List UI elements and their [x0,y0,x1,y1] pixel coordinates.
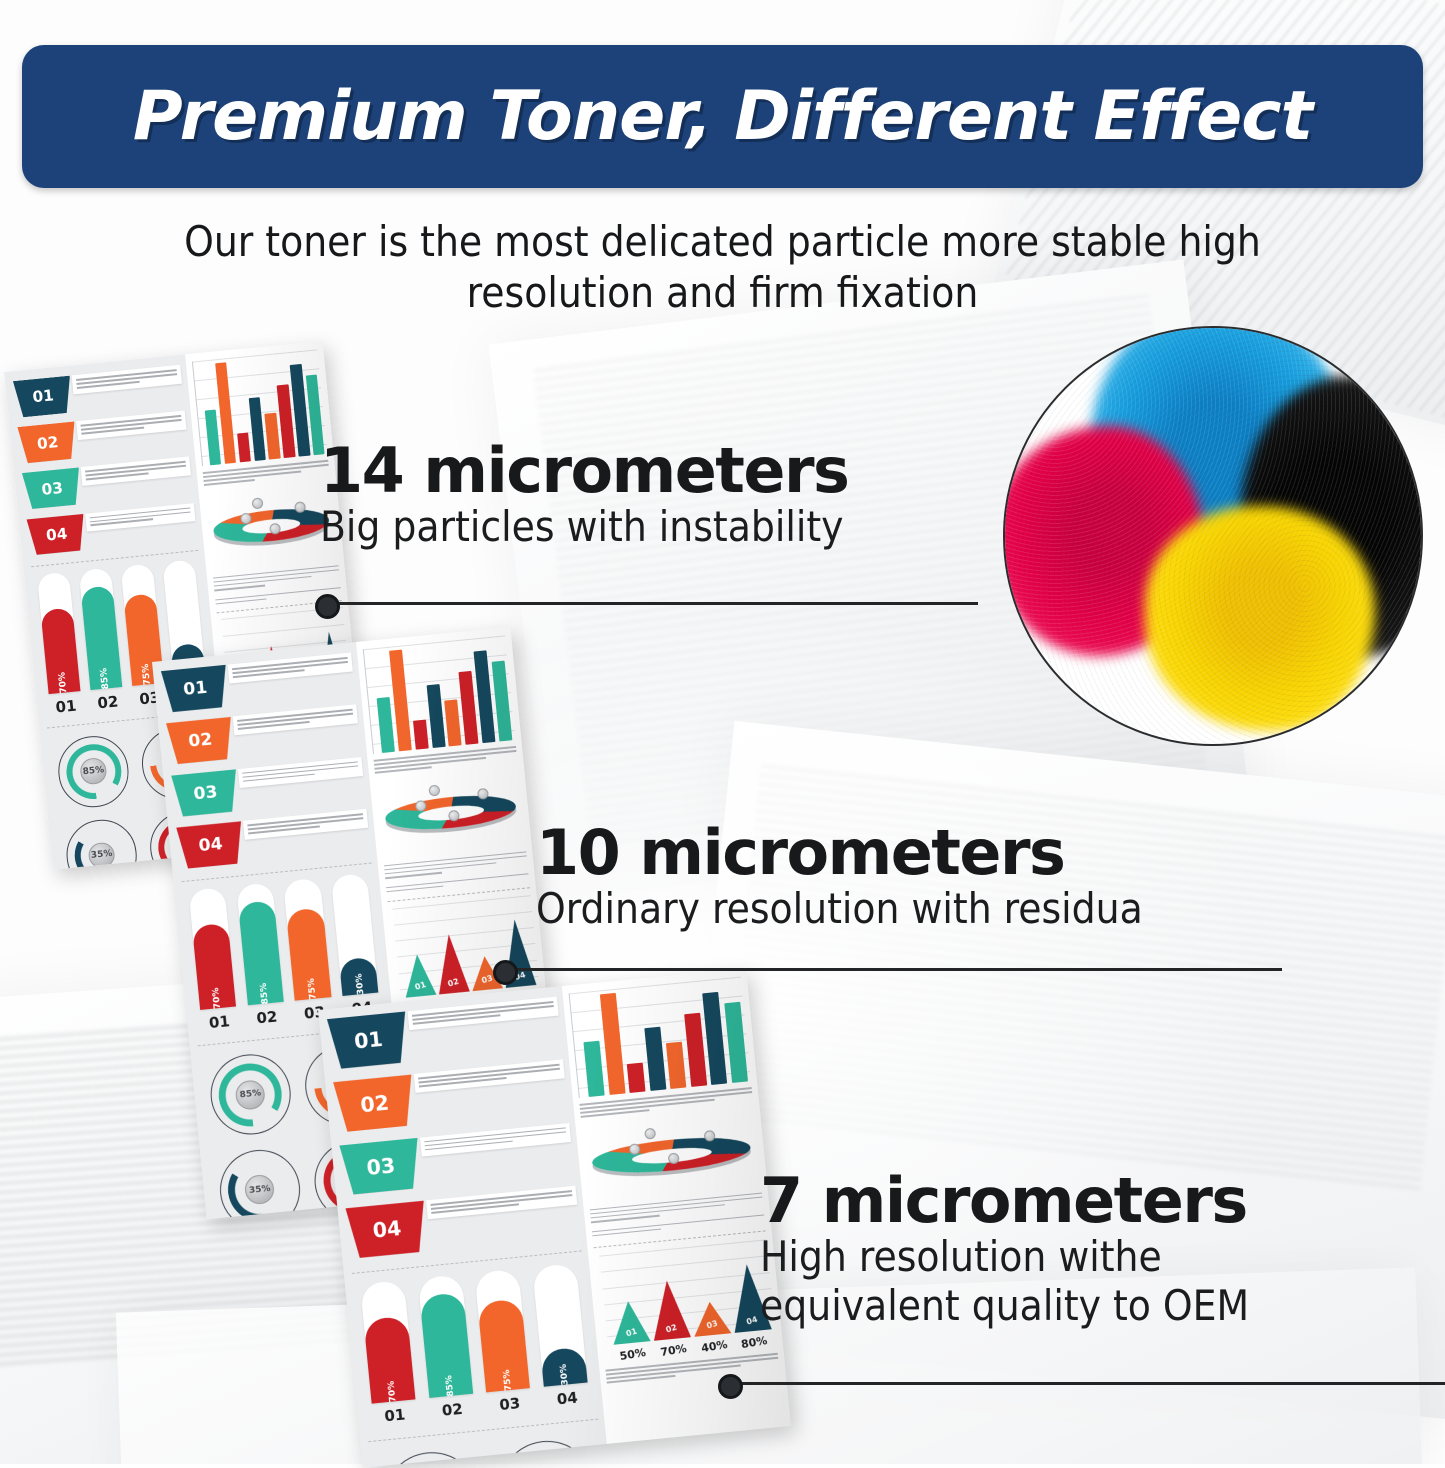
step-text-01 [228,653,353,684]
triangle-item: 02 [433,933,469,995]
paragraph-lines [424,1127,567,1150]
bar-category-label: 02 [248,1007,286,1028]
triangle-shape [609,1299,650,1344]
paragraph-lines [242,761,359,782]
mini-bar [248,397,266,461]
mini-bar [445,699,462,746]
step-row-03: 03 [339,1123,574,1196]
bar-value-label: 85% [444,1375,456,1397]
connector-line-10um [502,968,1282,971]
bar-category-label: 01 [49,696,83,717]
step-badge-04: 04 [345,1201,428,1259]
bar-value-label: 70% [58,671,70,693]
text-line [424,1127,566,1142]
donut-value-label: 85% [239,1089,261,1101]
bar-chart: 70%85%75%30% [183,873,385,1011]
step-row-01: 01 [327,997,562,1070]
bar-capsule: 85% [79,567,123,690]
spec-desc-7um-line-2: equivalent quality to OEM [760,1282,1249,1331]
donut-chart: 35% [63,816,140,869]
bar-fill: 85% [238,900,284,1005]
step-badge-02: 02 [333,1075,416,1133]
mini-bar [666,1041,686,1089]
bar-fill: 85% [81,585,123,690]
step-badge-02: 02 [17,422,78,464]
paragraph-lines [237,709,354,730]
bar-value-label: 75% [501,1369,513,1391]
triangle-item: 02 [648,1279,691,1341]
donut-value-label: 85% [82,765,104,777]
mini-bar [644,1027,666,1091]
triangle-value-label: 50% [614,1345,653,1364]
spec-block-14um: 14 micrometers Big particles with instab… [320,438,848,552]
spec-block-10um: 10 micrometers Ordinary resolution with … [536,820,1143,934]
connector-line-7um [727,1382,1445,1385]
ring-chart [376,768,526,860]
spec-value-7um: 7 micrometers [760,1168,1249,1233]
paragraph-lines [85,461,187,480]
subtitle-line-1: Our toner is the most delicated particle… [0,216,1445,267]
bar-value-label: 70% [211,987,223,1009]
step-badge-04: 04 [176,821,245,869]
mini-bar [627,1062,646,1093]
triangle-shape [691,1300,731,1337]
bar-value-label: 30% [354,973,366,995]
bar-capsule: 70% [37,572,81,695]
paragraph-lines [418,1064,561,1087]
ring-marker [269,522,281,534]
mini-bar [684,1012,707,1087]
mini-bars [200,350,325,466]
bar-category-label: 01 [372,1405,417,1427]
mini-bar [205,410,222,465]
step-row-04: 04 [345,1186,580,1259]
mini-bar [413,719,429,750]
bar-fill: 70% [40,607,80,694]
step-text-02 [413,1060,565,1094]
step-text-04 [243,809,368,840]
ring-marker [644,1128,656,1140]
mini-bar [492,661,513,742]
ring-marker [448,809,460,821]
step-badge-02: 02 [166,717,235,765]
step-text-04 [426,1186,578,1220]
ring-chart [582,1109,762,1203]
bar-fill: 70% [192,923,236,1010]
bar-capsule: 70% [188,887,236,1010]
triangle-value-label: 80% [735,1333,774,1352]
triangle-item: 01 [402,953,437,998]
spec-desc-10um: Ordinary resolution with residua [536,885,1143,934]
spec-desc-7um-line-1: High resolution withe [760,1233,1249,1282]
mini-bars [579,977,748,1097]
text-line [411,1001,553,1016]
paragraph-lines [90,507,192,526]
mini-bar-chart [192,349,327,466]
paragraph-lines [247,813,364,834]
bar-capsule: 85% [236,883,284,1006]
step-text-02 [76,411,186,441]
bar-value-label: 85% [259,983,271,1005]
step-row-03: 03 [22,457,193,510]
bar-capsule: 75% [475,1269,530,1393]
step-text-04 [85,503,195,533]
step-row-02: 02 [166,705,360,765]
paragraph-lines [81,415,183,434]
step-text-01 [72,365,182,395]
step-badge-03: 03 [22,467,83,509]
subtitle-line-2: resolution and firm fixation [0,267,1445,318]
paragraph-lines [430,1190,573,1213]
triangle-item: 03 [691,1300,731,1337]
mini-bar [376,697,394,753]
triangle-chart: 0102030450%70%40%80% [594,1239,777,1363]
bar-chart: 70%85%75%30% [353,1263,595,1405]
bar-fill: 85% [419,1292,473,1398]
subtitle: Our toner is the most delicated particle… [0,216,1445,318]
ring-marker [428,785,440,797]
donut-value-label: 35% [249,1184,271,1196]
sheet-left-column: 0102030470%85%75%30%0102030485%25%35%50% [318,986,607,1468]
bar-category-label: 02 [430,1399,475,1421]
step-badge-03: 03 [171,769,240,817]
bar-category-label: 03 [487,1393,532,1415]
text-line [430,1190,572,1205]
mini-bars [371,636,512,753]
bar-category-label: 01 [200,1012,238,1033]
step-text-03 [419,1123,571,1157]
donut-chart: 85% [55,733,132,810]
bar-value-label: 75% [306,978,318,1000]
step-row-04: 04 [26,503,197,556]
ring-marker [251,498,263,510]
step-row-02: 02 [17,411,188,464]
step-row-01: 01 [161,653,355,713]
bar-value-label: 30% [559,1364,571,1386]
donut-chart: 35% [216,1146,304,1219]
bar-capsule: 30% [532,1263,587,1387]
page-title: Premium Toner, Different Effect [133,77,1312,156]
step-badge-03: 03 [339,1138,422,1196]
paragraph-lines [411,1001,554,1024]
bar-capsule: 75% [283,878,331,1001]
triangle-value-label: 70% [654,1341,693,1360]
step-row-03: 03 [171,757,365,817]
mini-bar [265,412,281,459]
step-text-01 [407,997,559,1031]
bar-capsule: 70% [360,1280,415,1404]
bar-category-label: 02 [91,692,125,713]
axis-line [569,993,580,1098]
step-badge-04: 04 [26,513,87,555]
donut-value-label: 35% [90,849,112,861]
bar-fill: 75% [286,908,331,1001]
step-badge-01: 01 [327,1012,410,1070]
cmyk-toner-powder-image [1003,326,1423,746]
mini-bar-chart [569,977,751,1098]
triangle-row: 01020304 [398,901,537,997]
spec-value-10um: 10 micrometers [536,820,1143,885]
spec-desc-14um: Big particles with instability [320,503,848,552]
triangle-item: 01 [609,1299,650,1344]
bar-category-label: 04 [545,1388,590,1410]
bar-value-label: 70% [386,1381,398,1403]
connector-line-14um [324,602,978,605]
triangle-value-label: 40% [694,1337,733,1356]
step-text-03 [81,457,191,487]
mini-bar [426,684,445,748]
triangle-row: 01020304 [605,1246,772,1345]
spec-block-7um: 7 micrometers High resolution withe equi… [760,1168,1249,1331]
bar-value-label: 85% [99,667,111,689]
step-row-01: 01 [13,365,184,418]
step-row-04: 04 [176,809,370,869]
step-text-02 [233,705,358,736]
step-badge-01: 01 [13,376,74,418]
ring-chart [205,481,338,571]
mini-bar [584,1041,605,1097]
step-badge-01: 01 [161,665,230,713]
donut-chart: 85% [207,1051,295,1139]
mini-bar [237,432,251,462]
bar-capsule: 30% [331,873,379,996]
step-text-03 [238,757,363,788]
bar-capsule: 85% [417,1275,472,1399]
paragraph-lines [232,657,349,678]
mini-bar-chart [363,635,515,753]
spec-value-14um: 14 micrometers [320,438,848,503]
powder-grain-texture [1005,328,1421,744]
text-line [418,1064,560,1079]
header-banner: Premium Toner, Different Effect [22,45,1423,188]
mini-bar [600,993,625,1095]
step-row-02: 02 [333,1060,568,1133]
paragraph-lines [76,369,178,388]
